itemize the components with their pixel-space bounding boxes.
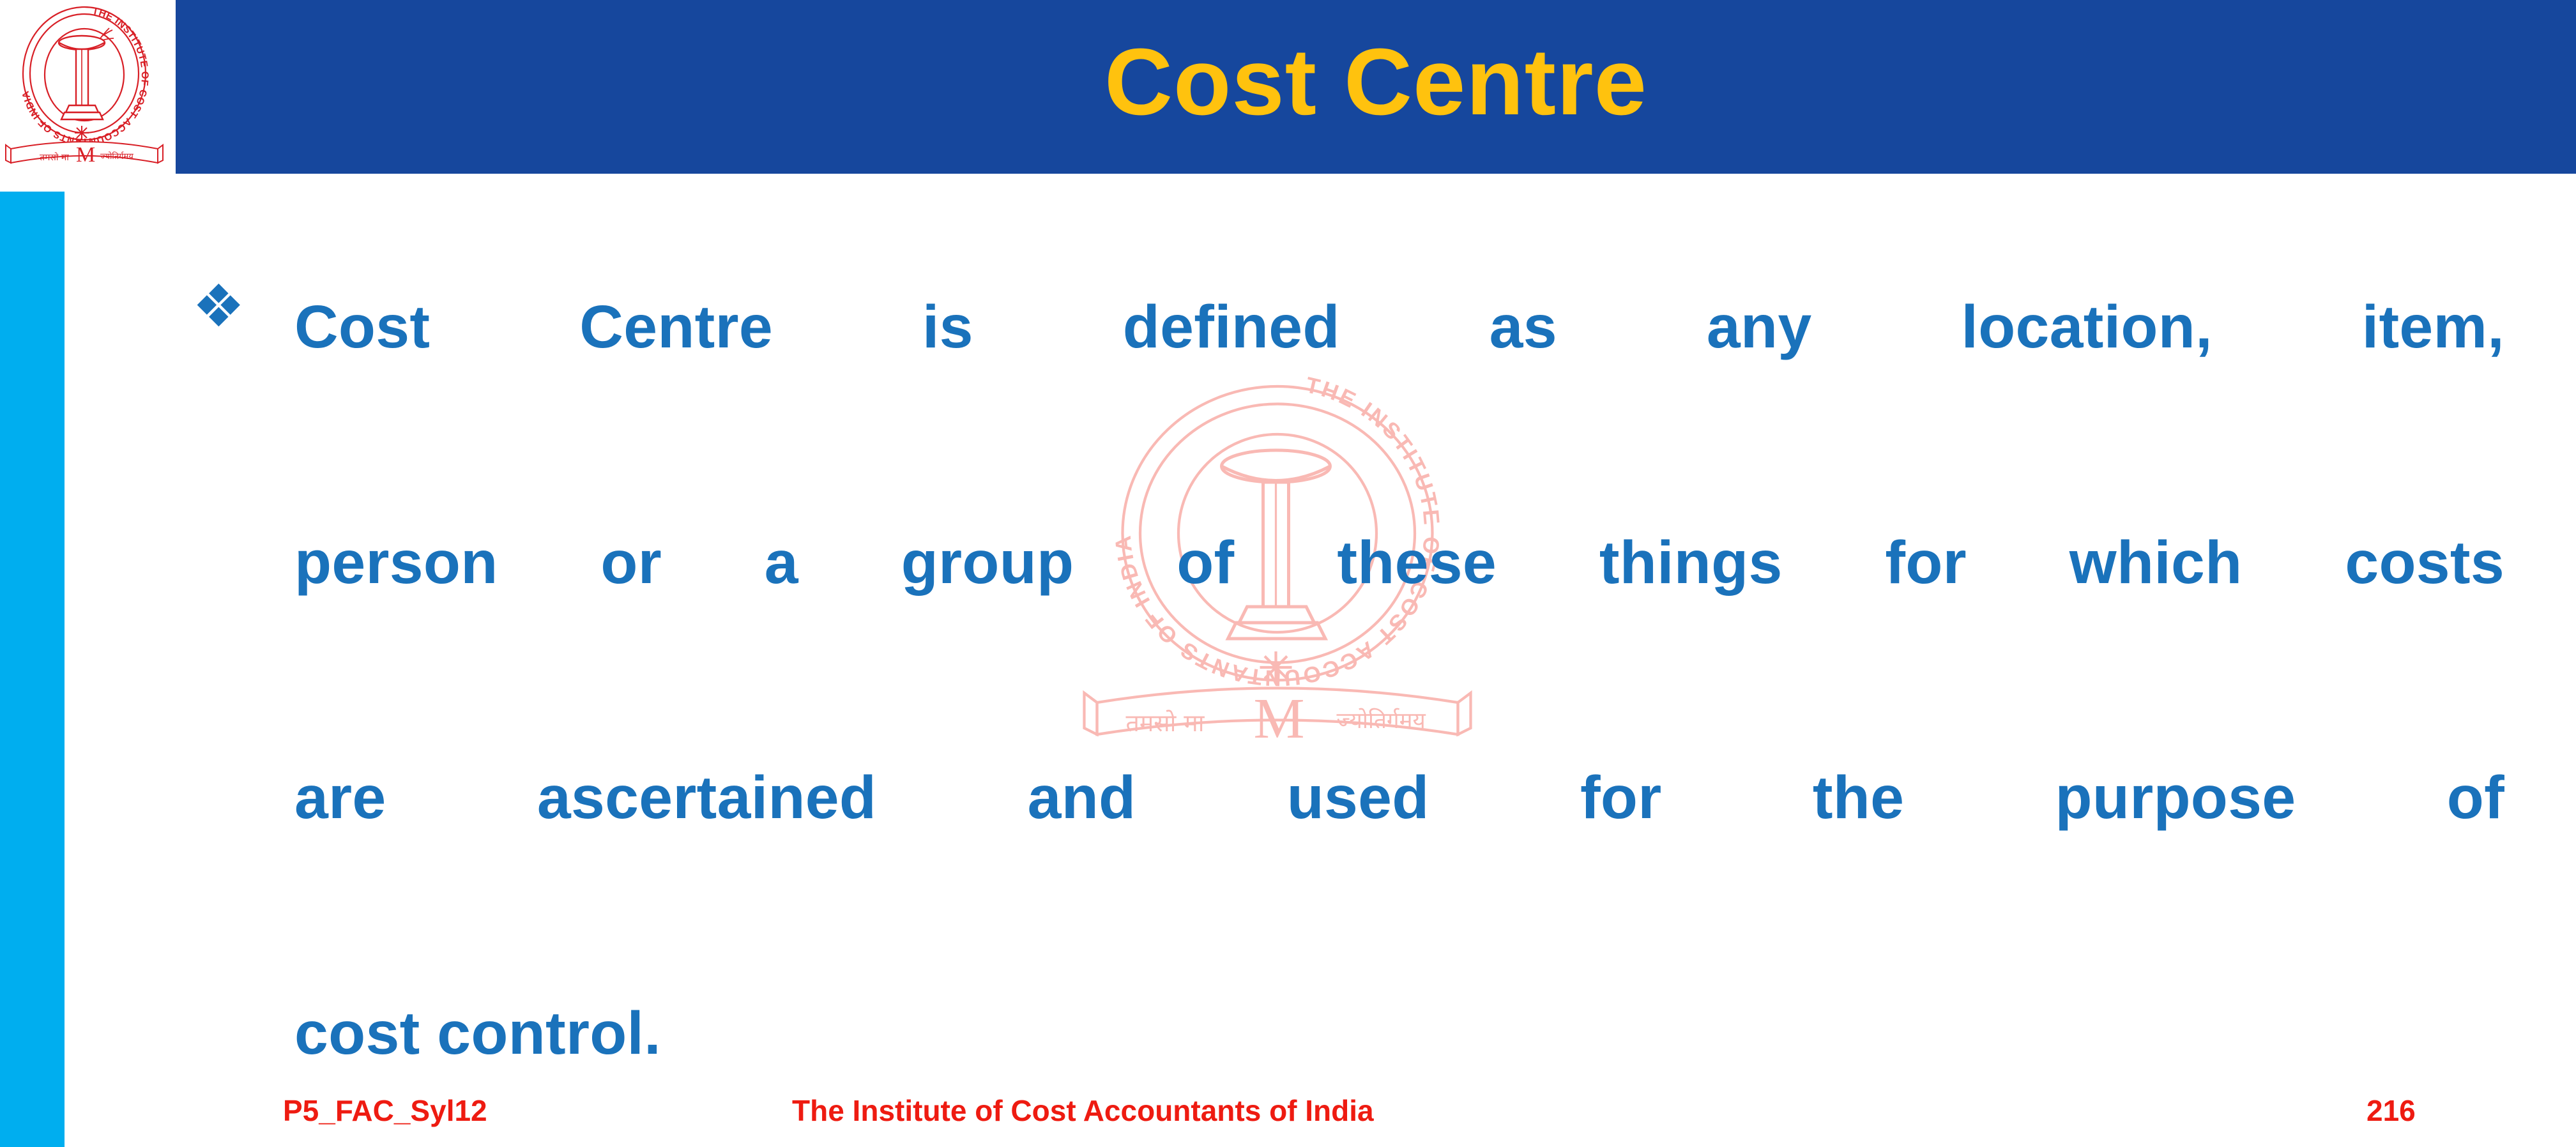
diamond-bullet-icon: ❖: [192, 277, 251, 336]
body-line-1: Cost Centre is defined as any location, …: [294, 268, 2504, 504]
bullet-list-item: ❖ Cost Centre is defined as any location…: [192, 268, 2504, 1092]
footer-course-code: P5_FAC_Syl12: [283, 1096, 487, 1125]
footer-institute-name: The Institute of Cost Accountants of Ind…: [792, 1096, 1374, 1125]
slide-header-band: Cost Centre: [176, 0, 2576, 174]
bullet-paragraph: Cost Centre is defined as any location, …: [294, 268, 2504, 1092]
svg-text:ज्योतिर्गमय: ज्योतिर्गमय: [100, 151, 133, 162]
body-line-2: person or a group of these things for wh…: [294, 504, 2504, 740]
slide-canvas: Cost Centre THE INSTITUTE OF COST ACCOUN…: [0, 0, 2576, 1147]
page-title: Cost Centre: [176, 0, 2576, 174]
institute-logo-icon: THE INSTITUTE OF COST ACCOUNTANTS OF IND…: [4, 3, 164, 171]
body-line-4: cost control.: [294, 975, 2504, 1092]
institute-logo: THE INSTITUTE OF COST ACCOUNTANTS OF IND…: [0, 0, 169, 174]
footer-page-number: 216: [2366, 1096, 2416, 1125]
svg-text:M: M: [76, 143, 95, 167]
svg-text:तमसो मा: तमसो मा: [40, 152, 69, 163]
left-accent-strip: [0, 192, 65, 1147]
slide-body: ❖ Cost Centre is defined as any location…: [65, 192, 2576, 1077]
slide-footer: P5_FAC_Syl12 The Institute of Cost Accou…: [0, 1077, 2576, 1147]
body-line-3: are ascertained and used for the purpose…: [294, 739, 2504, 975]
